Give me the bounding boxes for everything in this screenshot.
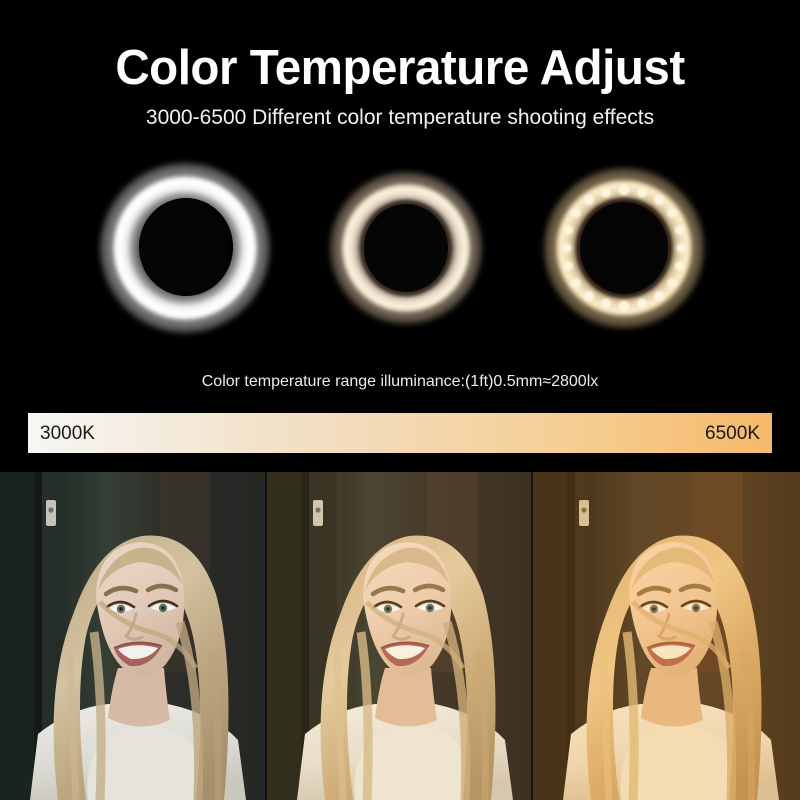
ring-light-neutral-warm [330, 172, 482, 324]
temp-label-min: 3000K [40, 424, 95, 443]
ring-light-warm-amber [544, 168, 704, 328]
sample-photo-neutral [267, 472, 534, 800]
illuminance-caption: Color temperature range illuminance:(1ft… [0, 374, 800, 390]
page-title: Color Temperature Adjust [12, 44, 788, 93]
ring-center-hole [580, 202, 668, 294]
hero-section: Color Temperature Adjust 3000-6500 Diffe… [0, 0, 800, 472]
ring-light-cool-white [100, 163, 270, 333]
sample-photo-strip [0, 472, 800, 800]
portrait-illustration [533, 472, 800, 800]
product-feature-banner: Color Temperature Adjust 3000-6500 Diffe… [0, 0, 800, 800]
portrait-illustration [267, 472, 534, 800]
color-temperature-gradient-bar: 3000K 6500K [28, 413, 772, 453]
temp-label-max: 6500K [705, 424, 760, 443]
ring-center-hole [364, 204, 448, 292]
sample-photo-cool [0, 472, 267, 800]
page-subtitle: 3000-6500 Different color temperature sh… [0, 107, 800, 128]
sample-photo-warm [533, 472, 800, 800]
ring-center-hole [139, 198, 233, 296]
portrait-illustration [0, 472, 267, 800]
